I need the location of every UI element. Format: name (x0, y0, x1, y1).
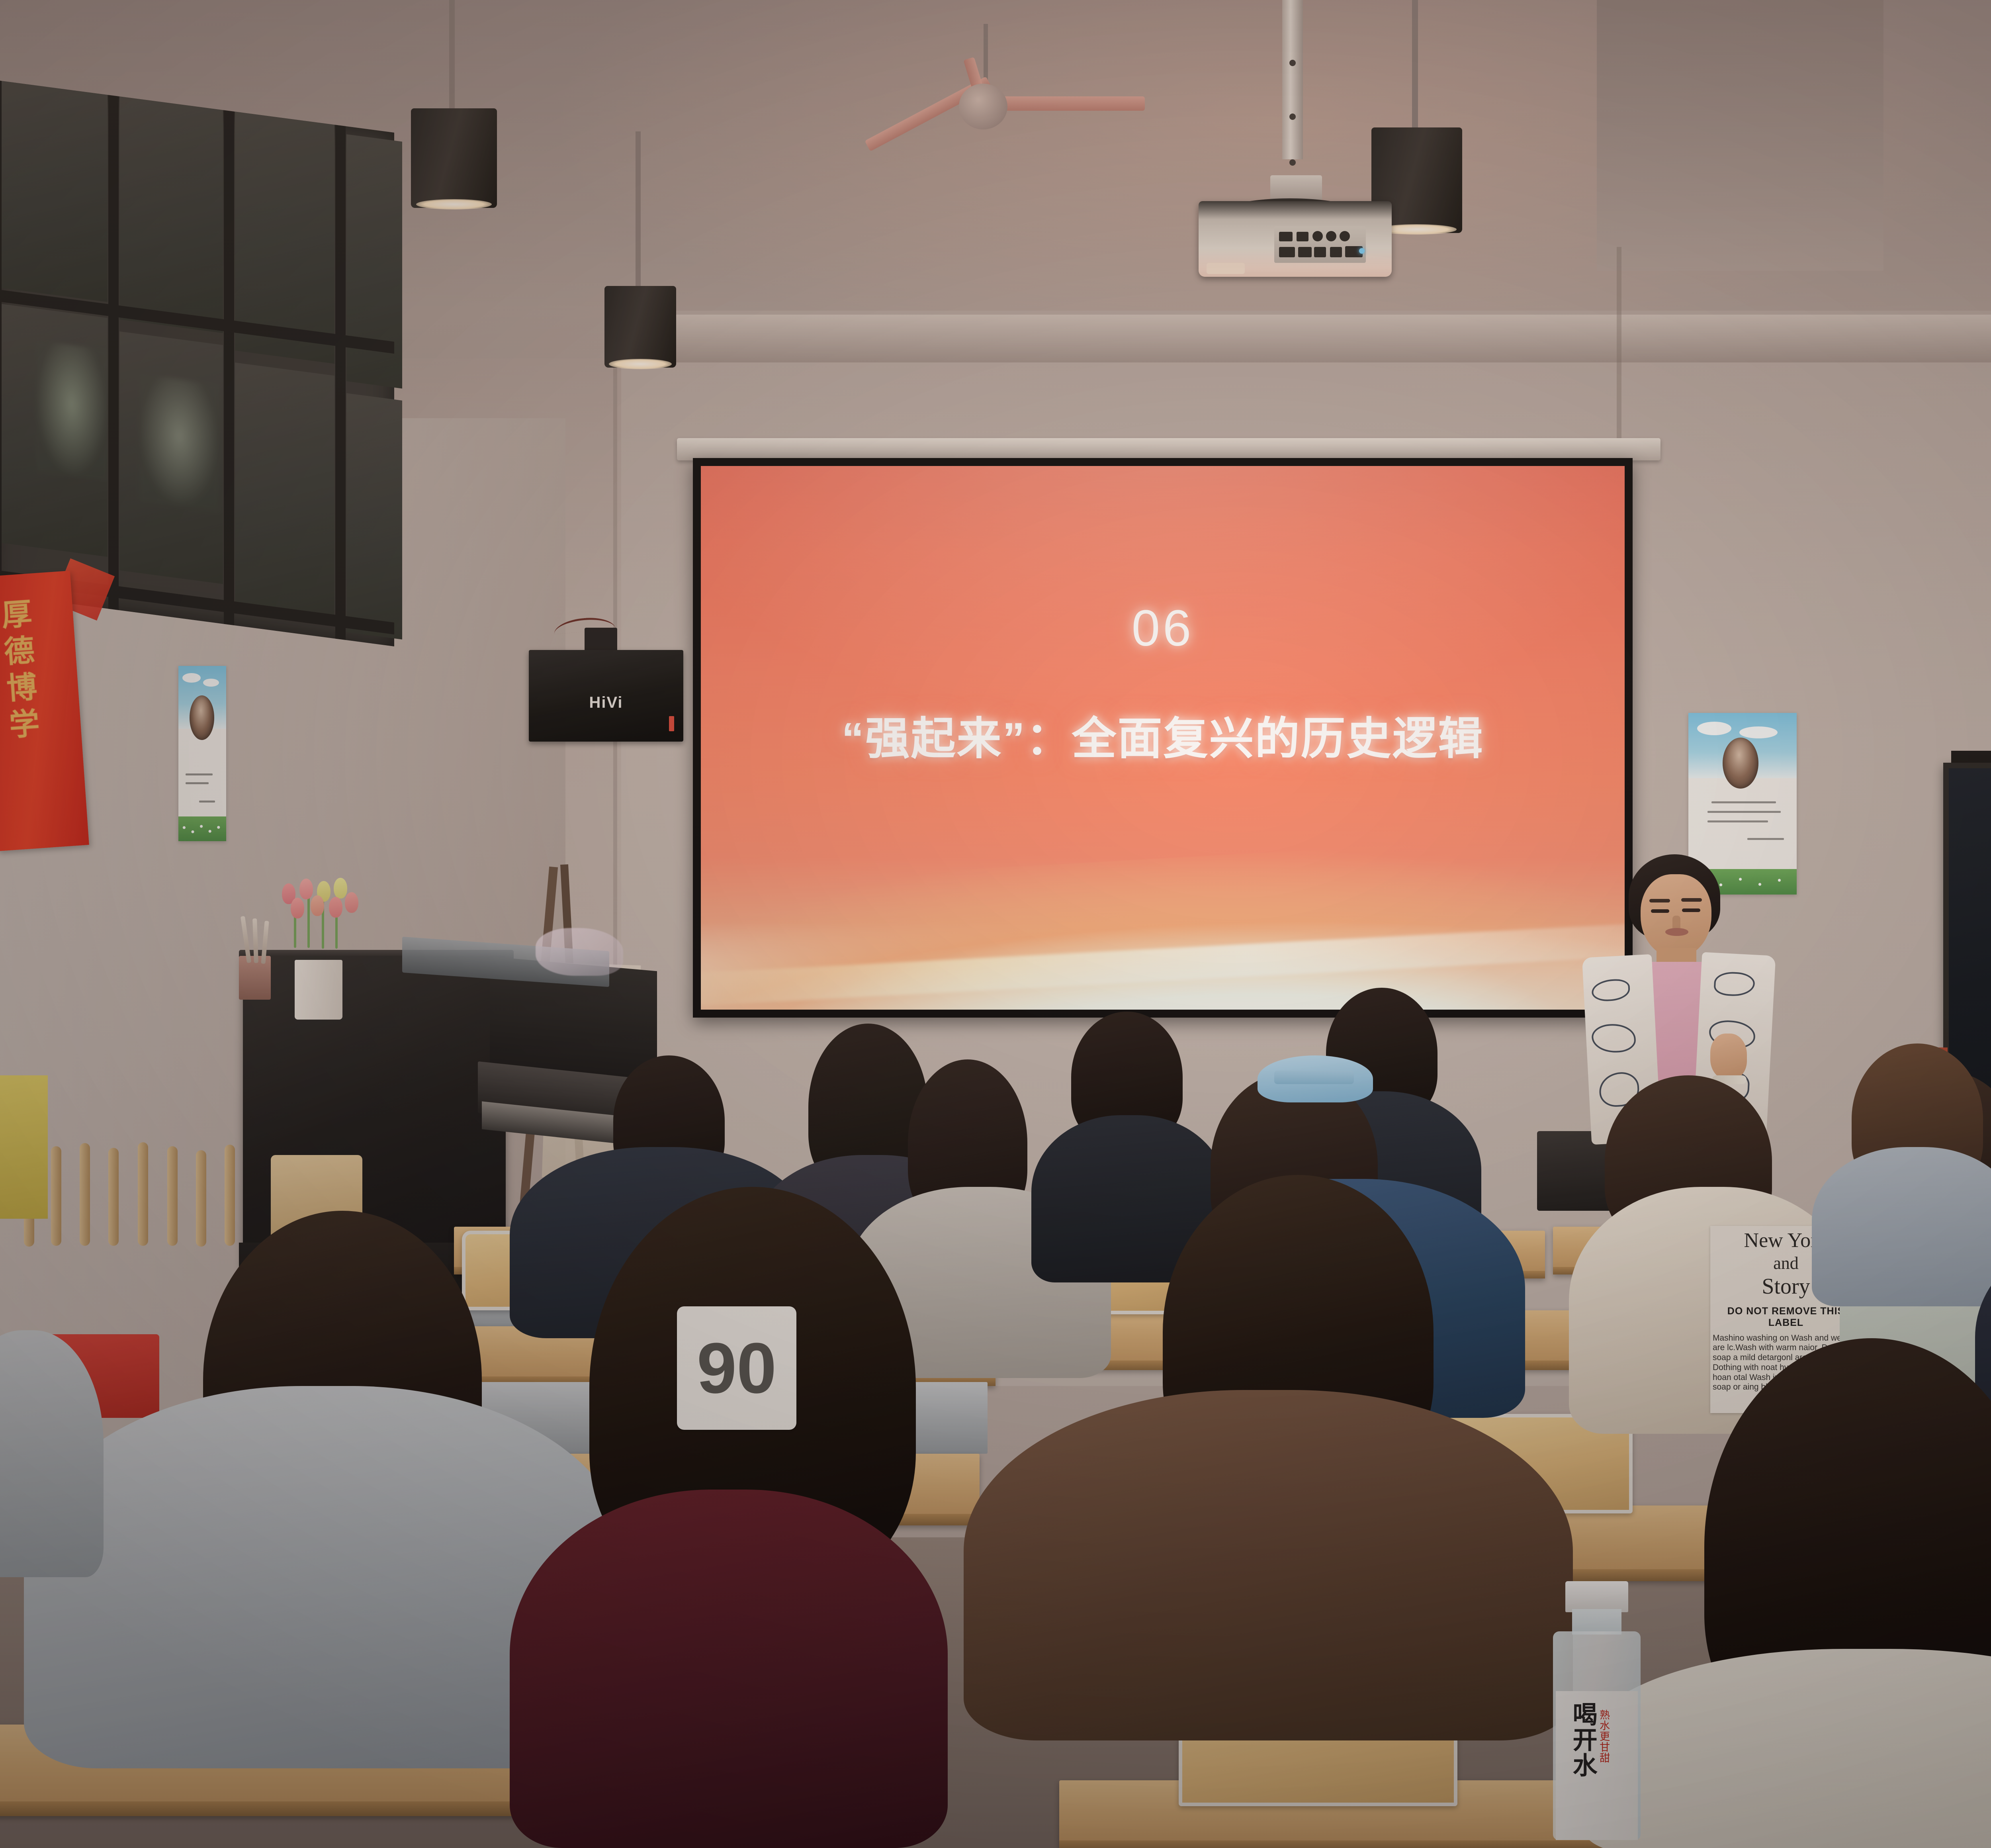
slide-title: “强起来”：全面复兴的历史逻辑 (701, 703, 1625, 767)
slide-section-number: 06 (701, 599, 1625, 658)
hair-clip: 90 (677, 1306, 796, 1430)
tulip (299, 879, 313, 899)
projector-led (1359, 248, 1365, 254)
screen-housing (677, 438, 1660, 460)
slide-glow (701, 466, 1625, 727)
lamp-glow (609, 359, 672, 369)
tulip (329, 897, 342, 918)
cap-strap (1274, 1071, 1354, 1084)
bottle-subtitle-text: 熟水更甘甜 (1597, 1709, 1612, 1763)
tulip (334, 878, 347, 899)
soffit-beam (605, 315, 1991, 362)
presenter-mouth (1665, 928, 1688, 936)
flower-vase (295, 960, 342, 1020)
ceiling-beam (1597, 0, 1883, 271)
fan-blade (992, 96, 1145, 111)
presenter-face (1641, 874, 1711, 958)
poster-attribution-line (1747, 838, 1784, 840)
poster-portrait (1723, 738, 1758, 789)
lamp-rod (1412, 0, 1418, 131)
slide-canvas: 06 “强起来”：全面复兴的历史逻辑 (701, 466, 1625, 1010)
poster-attribution-line (199, 801, 215, 803)
classroom-photo: 06 “强起来”：全面复兴的历史逻辑 HiVi 厚德博学 (0, 0, 1991, 1848)
wall-poster-left (178, 666, 226, 841)
ceiling-fan (844, 24, 1147, 155)
projector-lens (1207, 263, 1245, 274)
student-torso (1812, 1147, 1991, 1306)
presenter-hand (1710, 1034, 1747, 1079)
poster-cloud-icon (203, 679, 219, 687)
bottle-brand-text: 喝开水 (1565, 1701, 1600, 1778)
poster-cloud-icon (1697, 722, 1731, 735)
projector-port-panel (1274, 226, 1366, 263)
fan-hub (959, 84, 1007, 129)
poster-cloud-icon (1739, 726, 1778, 738)
speaker-brand-label: HiVi (529, 694, 683, 712)
lamp-glow (416, 199, 492, 209)
pendant-lamp-2 (597, 131, 685, 346)
lamp-shade (604, 286, 676, 368)
bulletin-card (0, 1075, 48, 1219)
label-caps-line: DO NOT REMOVE THIS LABEL (1713, 1306, 1859, 1329)
tulip-bouquet (271, 872, 370, 968)
projector-mount-hole (1289, 60, 1296, 66)
tulip (291, 898, 304, 918)
student-torso (510, 1490, 948, 1848)
wall-speaker: HiVi (529, 650, 683, 742)
poster-portrait (190, 695, 214, 740)
poster-quote-line (186, 773, 213, 775)
poster-quote-line (1711, 801, 1776, 803)
water-bottle[interactable]: 喝开水 熟水更甘甜 (1553, 1581, 1641, 1840)
projector-mount-rod (1282, 0, 1303, 159)
projector-mount-hole (1289, 114, 1296, 120)
lamp-rod (449, 0, 455, 112)
projector-mount-hole (1289, 159, 1296, 166)
poster-grass (178, 816, 226, 841)
poster-quote-line (1707, 820, 1768, 822)
bottle-neck (1572, 1609, 1621, 1635)
window-wall (0, 80, 394, 646)
banner-text: 厚德博学 (0, 597, 51, 830)
poster-quote-line (186, 782, 209, 784)
bottle-cap (1565, 1581, 1628, 1612)
projection-screen[interactable]: 06 “强起来”：全面复兴的历史逻辑 (693, 458, 1633, 1018)
plastic-bag (536, 928, 623, 976)
hair-clip-mark: 90 (697, 1327, 776, 1409)
poster-quote-line (1707, 811, 1781, 813)
pendant-lamp-1 (402, 0, 506, 223)
lamp-shade (411, 108, 497, 208)
poster-cloud-icon (182, 673, 201, 683)
lamp-rod (636, 131, 641, 291)
student-torso (964, 1390, 1573, 1740)
bottle-label: 喝开水 熟水更甘甜 (1556, 1691, 1638, 1840)
speaker-led-indicator (669, 716, 674, 731)
tulip (345, 892, 358, 913)
tulip (311, 895, 324, 916)
